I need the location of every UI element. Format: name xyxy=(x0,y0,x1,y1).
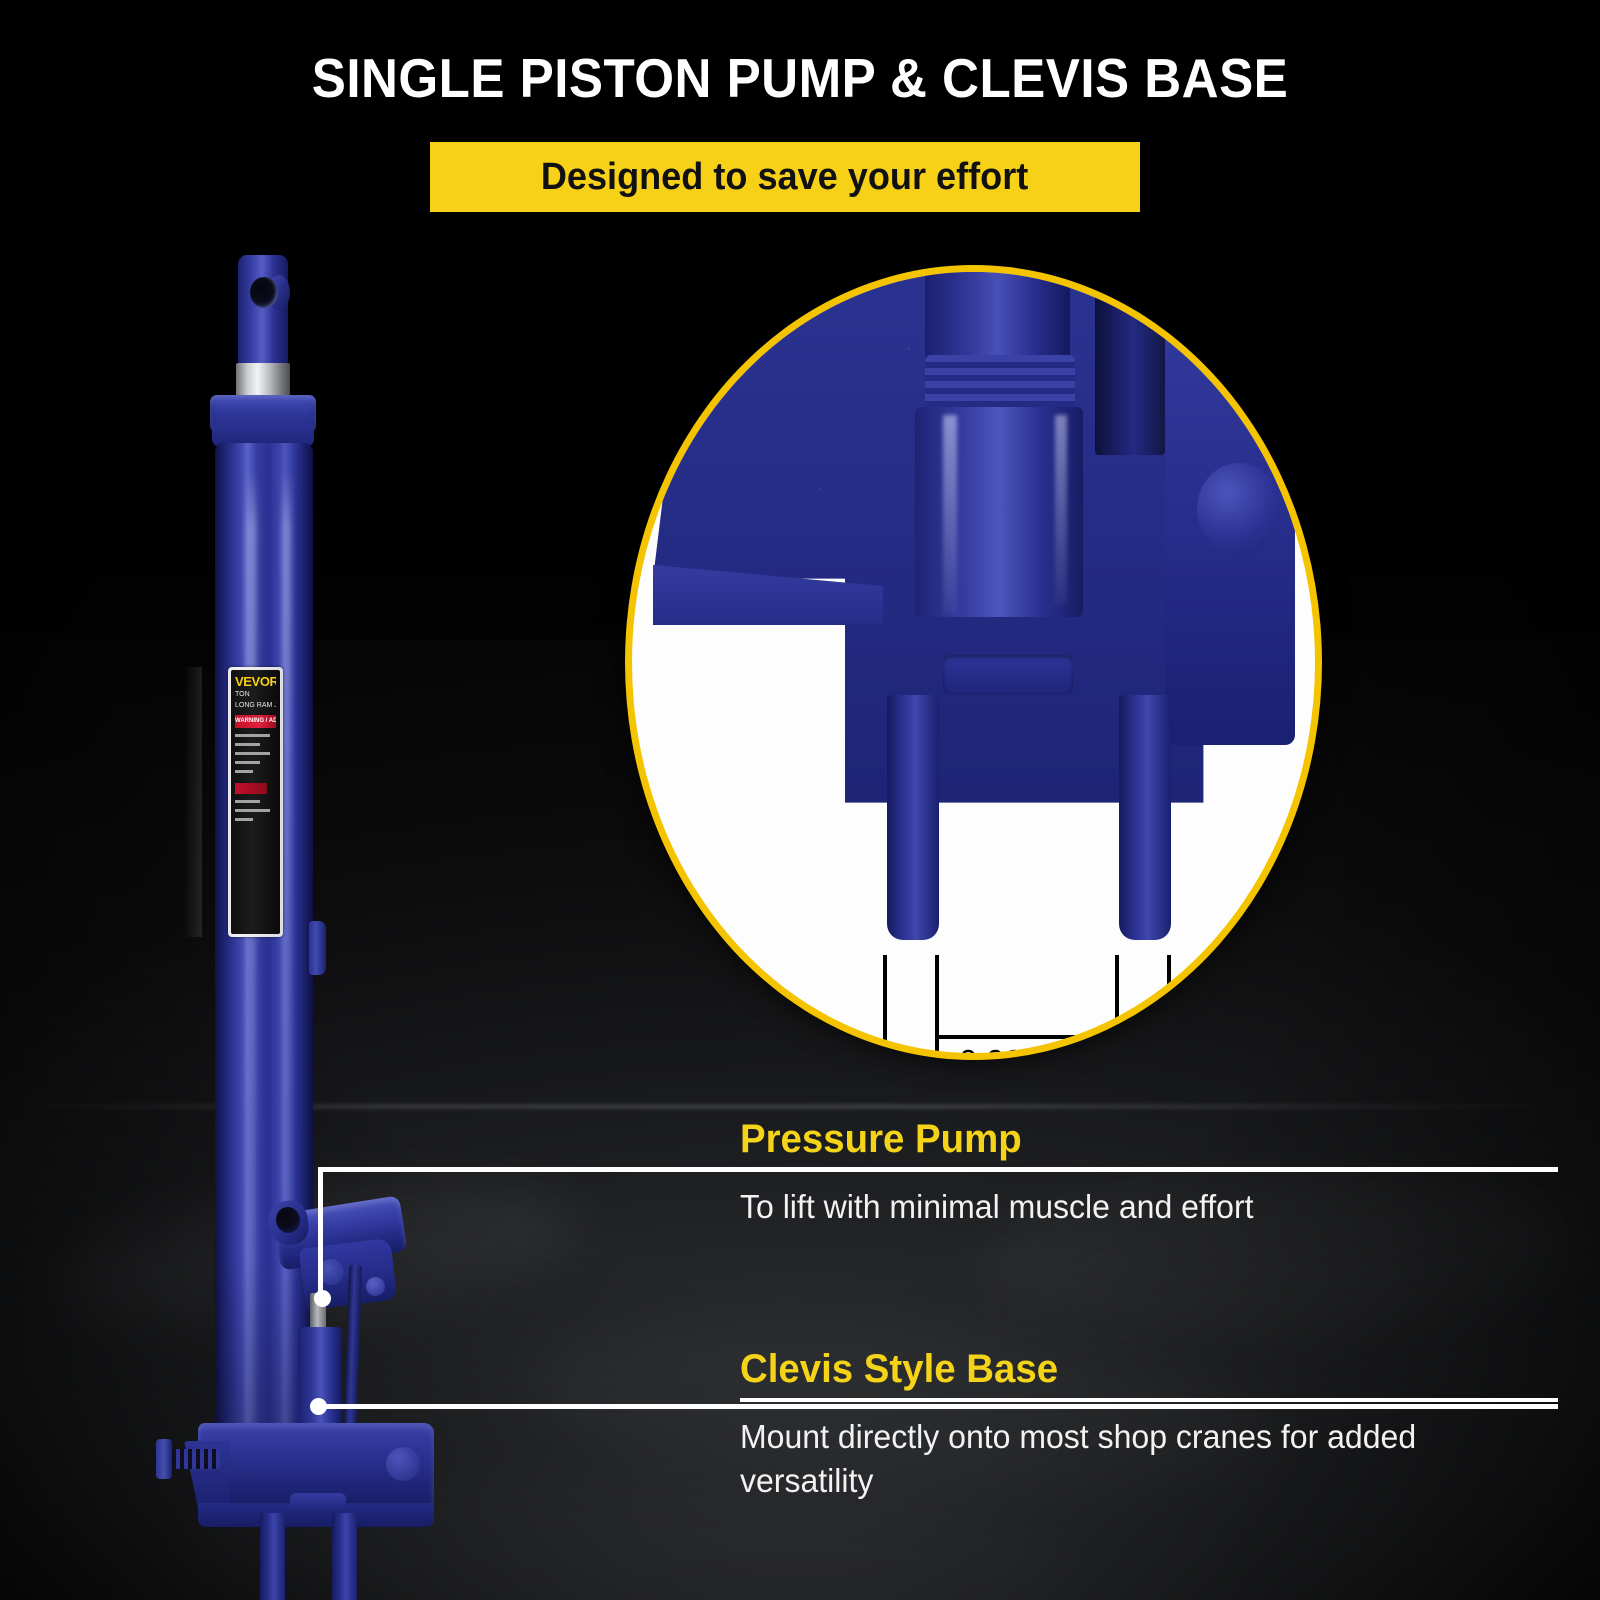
subtitle-banner: Designed to save your effort xyxy=(430,142,1140,212)
label-caution-banner xyxy=(235,783,267,794)
inset-photo: 0.98" 0.4" 0.4" xyxy=(625,265,1322,1060)
inset-rod-shadow xyxy=(1095,265,1165,455)
feature-description: Mount directly onto most shop cranes for… xyxy=(740,1415,1533,1502)
feature-rule xyxy=(740,1168,1558,1172)
clevis-eye-hole xyxy=(250,277,278,308)
label-gloss-overlay xyxy=(184,667,202,937)
label-text-line xyxy=(235,818,253,821)
feature-description: To lift with minimal muscle and effort xyxy=(740,1185,1533,1229)
label-text-line xyxy=(235,770,253,773)
inset-highlight xyxy=(943,415,957,615)
base-right-boss xyxy=(386,1447,420,1481)
label-text-line xyxy=(235,809,270,812)
feature-title: Pressure Pump xyxy=(740,1118,1525,1160)
clevis-prong-left xyxy=(260,1513,285,1600)
leader-dot-pump xyxy=(314,1290,331,1307)
clevis-eye-top xyxy=(238,255,288,370)
label-text-line xyxy=(235,800,260,803)
feature-callout-clevis-base: Clevis Style Base Mount directly onto mo… xyxy=(740,1348,1558,1502)
label-text-line xyxy=(235,743,260,746)
inset-boss xyxy=(1197,463,1281,555)
release-valve-knob xyxy=(156,1439,172,1479)
release-valve-thread xyxy=(172,1449,220,1469)
dim-tick xyxy=(1115,955,1119,1060)
label-line1: TON xyxy=(235,691,276,699)
clevis-base-detail-inset: 0.98" 0.4" 0.4" xyxy=(625,265,1322,1060)
label-text-line xyxy=(235,761,260,764)
subtitle-text: Designed to save your effort xyxy=(541,156,1028,199)
pump-rivet xyxy=(366,1277,385,1296)
product-warning-label: VEVOR TON LONG RAM JACK WARNING / ADVERT… xyxy=(228,667,283,937)
inset-highlight xyxy=(1055,415,1067,605)
label-text-line xyxy=(235,734,270,737)
cylinder-side-port xyxy=(309,921,326,975)
inset-cast-mark xyxy=(943,655,1073,695)
label-warning-banner: WARNING / ADVERTENCIA xyxy=(235,715,276,728)
dim-tick xyxy=(935,955,939,1060)
feature-callout-pressure-pump: Pressure Pump To lift with minimal muscl… xyxy=(740,1118,1558,1229)
inset-clevis-prong-right xyxy=(1119,695,1171,940)
dim-tick xyxy=(1167,955,1171,1060)
leader-dot-base xyxy=(310,1398,327,1415)
label-inner: VEVOR TON LONG RAM JACK WARNING / ADVERT… xyxy=(231,670,280,934)
product-feature-image: SINGLE PISTON PUMP & CLEVIS BASE Designe… xyxy=(0,0,1600,1600)
inset-threaded-collar xyxy=(925,355,1075,413)
base-cast-mark xyxy=(290,1493,346,1513)
page-title: SINGLE PISTON PUMP & CLEVIS BASE xyxy=(56,46,1544,110)
product-photo-long-ram-jack: VEVOR TON LONG RAM JACK WARNING / ADVERT… xyxy=(150,255,480,1525)
label-line2: LONG RAM JACK xyxy=(235,702,276,710)
leader-line-vertical-pump xyxy=(318,1167,323,1298)
label-text-line xyxy=(235,752,270,755)
inset-clevis-prong-left xyxy=(887,695,939,940)
feature-title: Clevis Style Base xyxy=(740,1348,1525,1390)
feature-rule xyxy=(740,1398,1558,1402)
dim-tick xyxy=(883,955,887,1060)
clevis-prong-right xyxy=(332,1513,357,1600)
dim-line-gap xyxy=(935,1035,1117,1039)
label-brand-text: VEVOR xyxy=(235,675,276,688)
